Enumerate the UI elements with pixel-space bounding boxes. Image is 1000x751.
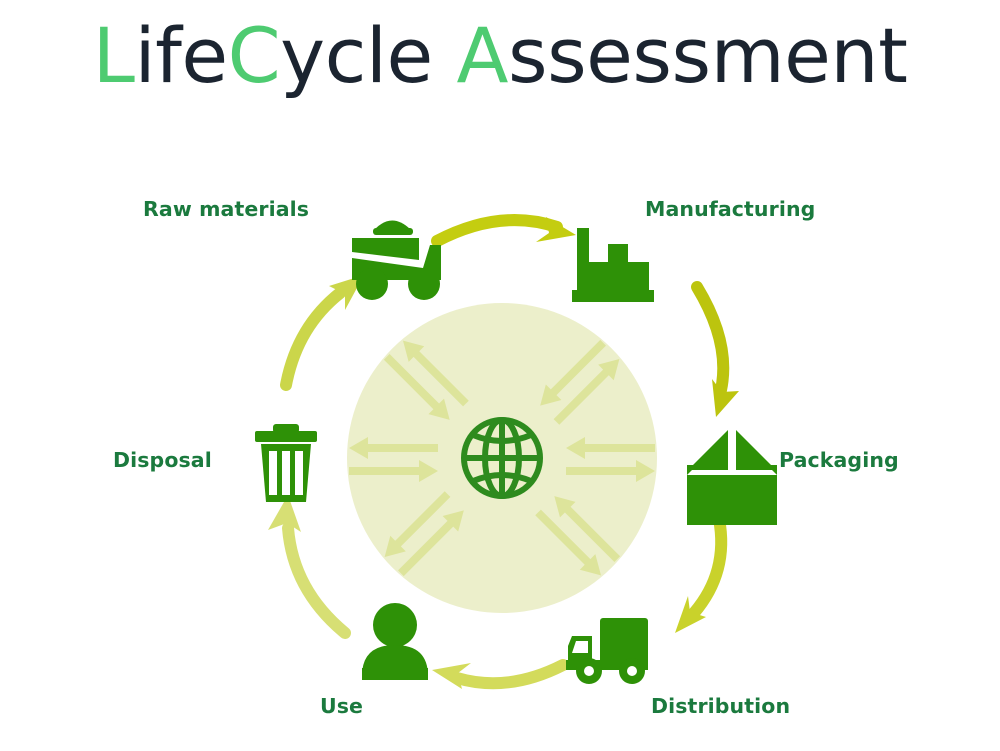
stage-label-use: Use [320,694,363,718]
stage-label-packaging: Packaging [779,448,899,472]
dump-truck-icon [352,221,441,301]
arc-arrow-manufacturing-to-packaging [697,287,739,417]
arc-arrow-raw-to-manufacturing [437,217,576,242]
stage-label-manufacturing: Manufacturing [645,197,815,221]
stage-label-disposal: Disposal [113,448,212,472]
person-icon [362,603,428,680]
arc-arrow-packaging-to-distribution [675,519,721,633]
arc-arrow-distribution-to-use [432,663,563,689]
title-part-5: A [456,11,508,100]
stage-label-raw-materials: Raw materials [143,197,309,221]
factory-icon [572,228,654,302]
delivery-truck-icon [566,618,648,684]
lifecycle-diagram: Raw materials Manufacturing Packaging Di… [0,140,1000,751]
title-part-1: L [93,11,135,100]
title-part-3: C [228,11,281,100]
arc-arrow-disposal-to-raw [286,275,364,385]
title-part-4: ycle [280,11,456,100]
arc-arrow-use-to-disposal [268,495,345,633]
page-title: LifeCycle Assessment [0,14,1000,98]
globe-icon [464,420,540,496]
trash-can-icon [255,424,317,502]
title-part-2: ife [134,11,227,100]
title-part-6: ssessment [508,11,907,100]
package-box-icon [687,430,777,525]
lifecycle-wheel-graphic [0,140,1000,751]
stage-label-distribution: Distribution [651,694,790,718]
